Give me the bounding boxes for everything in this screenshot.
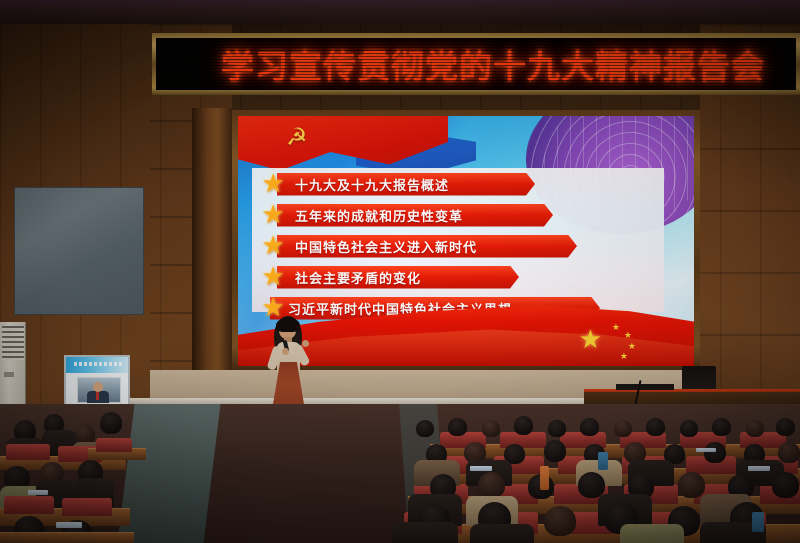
audience-member: [778, 442, 800, 463]
audience-member: [614, 420, 632, 437]
water-bottle: [752, 512, 764, 532]
audience-member: [514, 416, 533, 435]
audience-member: [482, 420, 500, 437]
air-conditioner-vent-icon: [2, 326, 24, 360]
china-flag-small-star-icon: ★: [628, 342, 636, 351]
bullet-bar: 社会主要矛盾的变化: [277, 266, 519, 289]
desk-item: [696, 448, 716, 452]
console-equipment: [616, 384, 674, 390]
star-icon: ★: [260, 233, 286, 259]
audience-member: [544, 440, 566, 462]
bullet-text: 十九大及十九大报告概述: [295, 175, 449, 194]
audience-member: [680, 420, 698, 437]
audience-seating: [0, 404, 800, 543]
bullet-text: 五年来的成就和历史性变革: [295, 206, 463, 225]
desk-item: [470, 466, 492, 471]
led-banner-text: 学习宣传贯彻党的十九大精神报告会: [187, 40, 765, 88]
air-conditioner-badge: [4, 372, 14, 377]
audience-member: [448, 418, 467, 436]
seat-back: [62, 498, 112, 516]
audience-member: [578, 472, 605, 498]
seat-back: [4, 496, 54, 514]
audience-member: [646, 418, 665, 436]
audience-member: [544, 506, 576, 536]
china-flag-big-star-icon: ★: [579, 326, 602, 352]
audience-member: [704, 442, 726, 463]
seat-back: [96, 438, 132, 452]
poster-figure-tie: [96, 391, 99, 400]
bullet-text: 社会主要矛盾的变化: [295, 268, 421, 287]
audience-member: [580, 418, 599, 436]
star-icon: ★: [260, 295, 286, 321]
bullet-bar: 十九大及十九大报告概述: [277, 173, 535, 196]
list-item: ★ 中国特色社会主义进入新时代: [260, 234, 680, 258]
desk-item: [56, 522, 82, 528]
audience-member: [776, 418, 795, 436]
seat-back: [6, 444, 50, 460]
poster-figure-face: [93, 382, 103, 392]
china-flag-small-star-icon: ★: [612, 323, 620, 332]
desk-item: [28, 490, 48, 495]
list-item: ★ 社会主要矛盾的变化: [260, 265, 680, 289]
star-icon: ★: [260, 202, 286, 228]
list-item: ★ 五年来的成就和历史性变革: [260, 203, 680, 227]
audience-member: [416, 420, 434, 437]
audience-member: [712, 418, 731, 436]
led-banner: 学习宣传贯彻党的十九大精神报告会: [156, 38, 796, 90]
audience-member: [772, 472, 799, 498]
audience-member: [100, 412, 122, 434]
audience-member: [678, 472, 705, 498]
led-banner-frame: 学习宣传贯彻党的十九大精神报告会: [152, 33, 800, 95]
audience-member: [478, 472, 505, 498]
center-aisle: [117, 404, 220, 543]
star-icon: ★: [260, 171, 286, 197]
china-flag-small-star-icon: ★: [620, 352, 628, 361]
china-flag-small-star-icon: ★: [624, 331, 632, 340]
audience-coat: [392, 522, 458, 543]
water-bottle: [598, 452, 608, 470]
seat-row: [0, 532, 134, 543]
slide-bullet-list: ★ 十九大及十九大报告概述 ★ 五年来的成就和历史性变革 ★ 中国特色社会主义进…: [260, 172, 680, 320]
poster-header-text: [74, 362, 122, 366]
audience-coat: [620, 524, 684, 543]
bullet-text: 中国特色社会主义进入新时代: [295, 237, 477, 256]
lecture-hall-scene: 学习宣传贯彻党的十九大精神报告会 ☭ ★ 十九大及十九大报告概述 ★: [0, 0, 800, 543]
water-bottle: [540, 466, 549, 490]
presenter-right-hand: [302, 340, 309, 347]
bullet-bar: 五年来的成就和历史性变革: [277, 204, 553, 227]
audience-member: [548, 420, 566, 437]
audience-member: [746, 420, 764, 437]
hammer-sickle-icon: ☭: [286, 126, 316, 152]
bullet-bar: 中国特色社会主义进入新时代: [277, 235, 577, 258]
acoustic-panel: [14, 187, 144, 315]
desk-item: [748, 466, 770, 471]
presenter-left-hand: [282, 348, 289, 355]
list-item: ★ 十九大及十九大报告概述: [260, 172, 680, 196]
star-icon: ★: [260, 264, 286, 290]
audience-coat: [470, 524, 534, 543]
